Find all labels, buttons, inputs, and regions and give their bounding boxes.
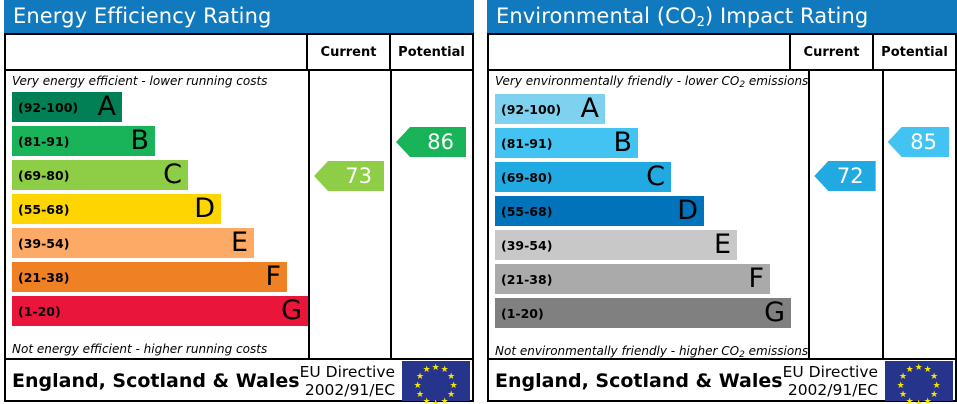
co2-band-d: (55-68) D bbox=[495, 196, 704, 226]
energy-band-g-letter: G bbox=[281, 297, 302, 324]
epc-charts-root: Energy Efficiency Rating Current Potenti… bbox=[0, 0, 957, 404]
co2-band-b-letter: B bbox=[613, 129, 632, 156]
co2-directive-line1: EU Directive bbox=[783, 363, 879, 381]
co2-band-e: (39-54) E bbox=[495, 230, 737, 260]
energy-band-g-range: (1-20) bbox=[12, 304, 61, 319]
energy-column-header-row: Current Potential bbox=[6, 35, 472, 71]
co2-band-c-range: (69-80) bbox=[495, 170, 552, 185]
energy-header-current: Current bbox=[308, 35, 391, 69]
energy-current-arrow: 73 bbox=[314, 161, 384, 191]
energy-band-e-range: (39-54) bbox=[12, 236, 69, 251]
co2-column-header-row: Current Potential bbox=[489, 35, 955, 71]
energy-potential-column: 86 bbox=[392, 71, 472, 358]
energy-potential-arrow: 86 bbox=[396, 127, 466, 157]
co2-band-a-letter: A bbox=[581, 95, 599, 122]
co2-header-current: Current bbox=[791, 35, 874, 69]
co2-band-b: (81-91) B bbox=[495, 128, 638, 158]
co2-band-f: (21-38) F bbox=[495, 264, 770, 294]
co2-band-c: (69-80) C bbox=[495, 162, 671, 192]
co2-bottom-note: Not environmentally friendly - higher CO… bbox=[489, 340, 808, 362]
energy-efficiency-title: Energy Efficiency Rating bbox=[4, 0, 474, 33]
co2-band-f-letter: F bbox=[748, 265, 764, 292]
co2-band-list: (92-100) A (81-91) B (69-80) C (55-68) bbox=[489, 92, 808, 340]
energy-band-f: (21-38) F bbox=[12, 262, 287, 292]
energy-band-a-letter: A bbox=[98, 93, 116, 120]
co2-footer-region: England, Scotland & Wales bbox=[495, 370, 783, 392]
energy-band-d-letter: D bbox=[194, 195, 215, 222]
energy-band-c-range: (69-80) bbox=[12, 168, 69, 183]
co2-band-g-range: (1-20) bbox=[495, 306, 544, 321]
energy-band-b-range: (81-91) bbox=[12, 134, 69, 149]
energy-band-c-letter: C bbox=[163, 161, 182, 188]
co2-current-column: 72 bbox=[810, 71, 883, 358]
co2-band-d-letter: D bbox=[677, 197, 698, 224]
energy-band-g: (1-20) G bbox=[12, 296, 308, 326]
co2-impact-title-subscript: 2 bbox=[697, 15, 705, 30]
energy-band-f-range: (21-38) bbox=[12, 270, 69, 285]
co2-top-note-a: Very environmentally friendly - lower CO bbox=[495, 74, 739, 88]
energy-body-row: Very energy efficient - lower running co… bbox=[6, 71, 472, 358]
co2-directive-line2: 2002/91/EC bbox=[783, 381, 879, 399]
co2-header-potential: Potential bbox=[874, 35, 955, 69]
energy-band-d-range: (55-68) bbox=[12, 202, 69, 217]
co2-header-blank-cell bbox=[489, 35, 791, 69]
co2-band-b-range: (81-91) bbox=[495, 136, 552, 151]
energy-band-e-letter: E bbox=[231, 229, 248, 256]
energy-efficiency-panel: Energy Efficiency Rating Current Potenti… bbox=[4, 0, 474, 404]
co2-top-note-b: emissions bbox=[745, 74, 808, 88]
co2-band-d-range: (55-68) bbox=[495, 204, 552, 219]
energy-footer: England, Scotland & Wales EU Directive 2… bbox=[6, 358, 472, 402]
co2-top-note-subscript: 2 bbox=[739, 80, 745, 90]
co2-footer: England, Scotland & Wales EU Directive 2… bbox=[489, 358, 955, 402]
energy-footer-region: England, Scotland & Wales bbox=[12, 370, 300, 392]
co2-band-g: (1-20) G bbox=[495, 298, 791, 328]
co2-impact-title-tail: ) Impact Rating bbox=[705, 4, 868, 28]
co2-band-e-letter: E bbox=[714, 231, 731, 258]
energy-efficiency-table: Current Potential Very energy efficient … bbox=[4, 33, 474, 402]
co2-potential-column: 85 bbox=[884, 71, 955, 358]
energy-efficiency-title-text: Energy Efficiency Rating bbox=[13, 4, 271, 28]
eu-flag-icon-right bbox=[885, 361, 953, 401]
co2-band-a: (92-100) A bbox=[495, 94, 605, 124]
energy-band-b-letter: B bbox=[130, 127, 149, 154]
energy-band-list: (92-100) A (81-91) B (69-80) C (55-68) bbox=[6, 90, 308, 338]
energy-directive-line2: 2002/91/EC bbox=[300, 381, 396, 399]
co2-band-c-letter: C bbox=[646, 163, 665, 190]
co2-potential-arrow: 85 bbox=[888, 127, 949, 157]
co2-band-a-range: (92-100) bbox=[495, 102, 561, 117]
energy-directive-line1: EU Directive bbox=[300, 363, 396, 381]
energy-band-a-range: (92-100) bbox=[12, 100, 78, 115]
energy-bottom-note: Not energy efficient - higher running co… bbox=[6, 338, 308, 358]
energy-band-d: (55-68) D bbox=[12, 194, 221, 224]
co2-bottom-note-subscript: 2 bbox=[739, 350, 745, 360]
energy-header-blank-cell bbox=[6, 35, 308, 69]
energy-header-potential: Potential bbox=[391, 35, 472, 69]
energy-bars-column: Very energy efficient - lower running co… bbox=[6, 71, 310, 358]
co2-band-g-letter: G bbox=[764, 299, 785, 326]
energy-band-e: (39-54) E bbox=[12, 228, 254, 258]
co2-bottom-note-a: Not environmentally friendly - higher CO bbox=[495, 344, 739, 358]
co2-impact-panel: Environmental (CO2) Impact Rating Curren… bbox=[487, 0, 957, 404]
eu-flag-icon-left bbox=[402, 361, 470, 401]
co2-impact-table: Current Potential Very environmentally f… bbox=[487, 33, 957, 402]
energy-band-a: (92-100) A bbox=[12, 92, 122, 122]
energy-band-c: (69-80) C bbox=[12, 160, 188, 190]
co2-impact-title: Environmental (CO2) Impact Rating bbox=[487, 0, 957, 33]
co2-bottom-note-b: emissions bbox=[745, 344, 808, 358]
co2-current-arrow: 72 bbox=[814, 161, 875, 191]
energy-top-note: Very energy efficient - lower running co… bbox=[6, 71, 308, 90]
co2-bars-column: Very environmentally friendly - lower CO… bbox=[489, 71, 810, 358]
energy-band-b: (81-91) B bbox=[12, 126, 155, 156]
co2-body-row: Very environmentally friendly - lower CO… bbox=[489, 71, 955, 358]
co2-impact-title-text: Environmental (CO bbox=[496, 4, 697, 28]
co2-top-note: Very environmentally friendly - lower CO… bbox=[489, 71, 808, 92]
energy-footer-directive: EU Directive 2002/91/EC bbox=[300, 363, 403, 399]
energy-band-f-letter: F bbox=[265, 263, 281, 290]
co2-band-e-range: (39-54) bbox=[495, 238, 552, 253]
energy-current-column: 73 bbox=[310, 71, 392, 358]
co2-footer-directive: EU Directive 2002/91/EC bbox=[783, 363, 886, 399]
co2-band-f-range: (21-38) bbox=[495, 272, 552, 287]
